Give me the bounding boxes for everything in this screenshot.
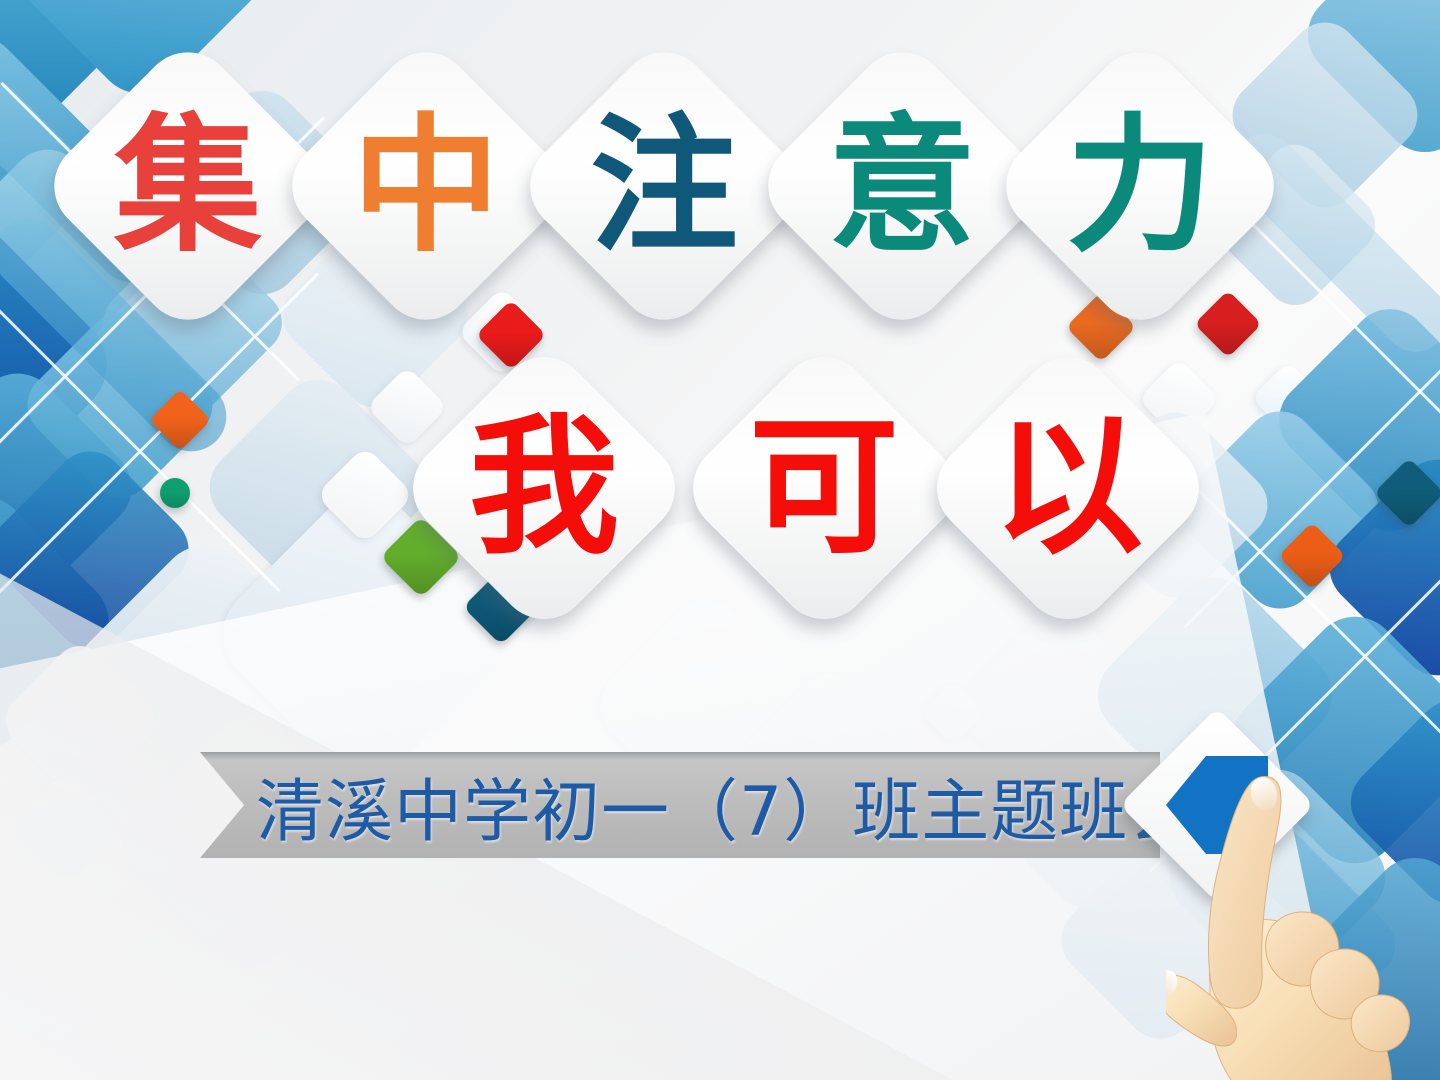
word-glyph-3: 注 [556,78,772,294]
presentation-slide: 集 中 注 意 力 我 可 以 清溪中学初一（7）班主题班会 [0,0,1440,1080]
word-glyph-4: 意 [794,78,1010,294]
next-slide-button[interactable] [1119,707,1314,902]
word-card-5[interactable]: 力 [987,33,1292,338]
word-card-6[interactable]: 我 [394,338,694,638]
arrow-left-icon [1148,736,1286,874]
word-glyph-8: 以 [962,382,1174,594]
word-glyph-5: 力 [1032,78,1248,294]
subtitle-banner[interactable]: 清溪中学初一（7）班主题班会 [200,752,1160,858]
word-glyph-6: 我 [438,382,650,594]
word-glyph-1: 集 [80,78,296,294]
word-glyph-2: 中 [318,78,534,294]
word-card-8[interactable]: 以 [918,338,1218,638]
word-glyph-7: 可 [718,382,930,594]
subtitle-text: 清溪中学初一（7）班主题班会 [256,756,1197,855]
word-card-7[interactable]: 可 [674,338,974,638]
